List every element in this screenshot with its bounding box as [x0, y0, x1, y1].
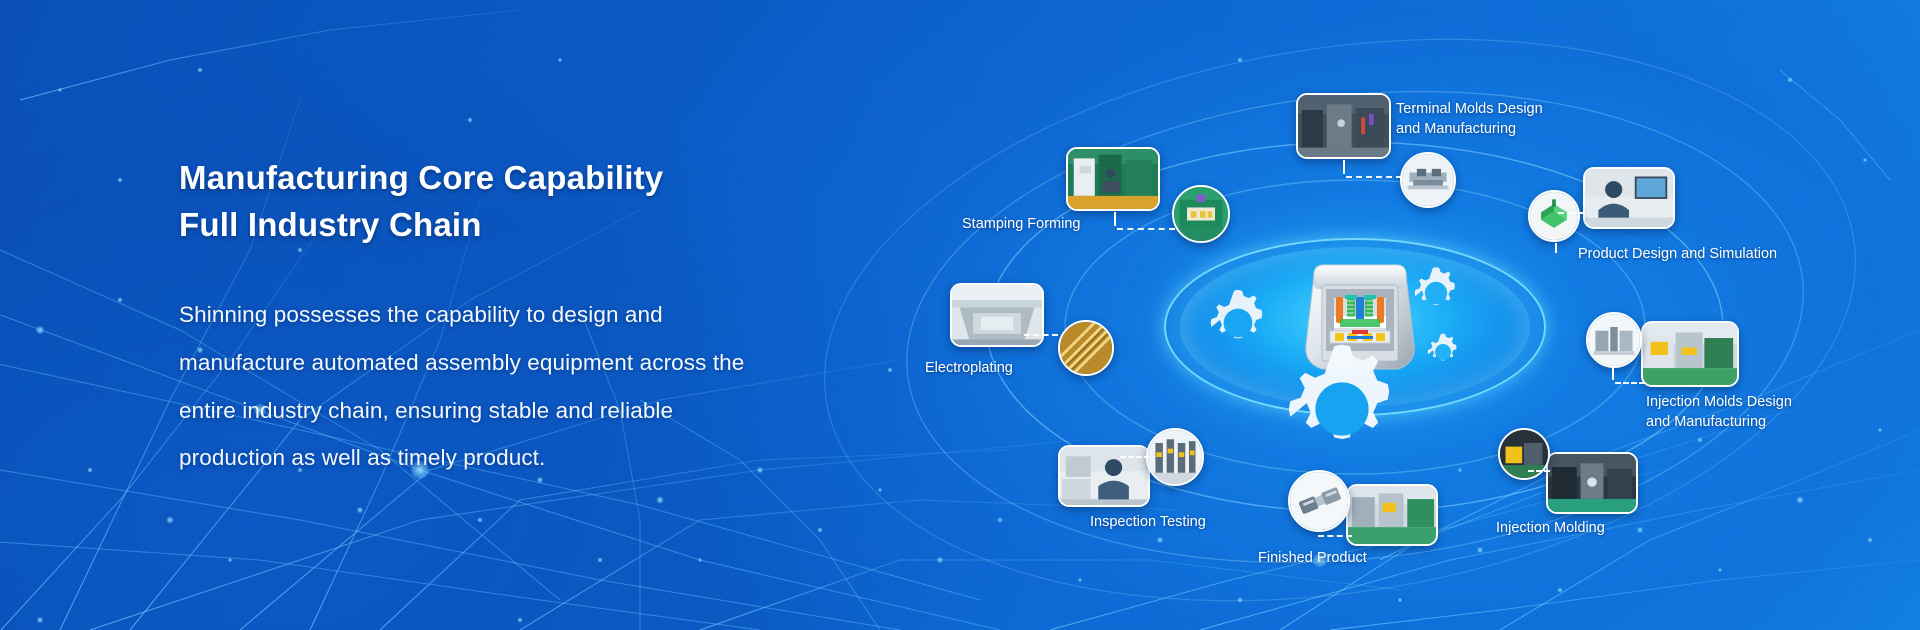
connector-product-photo[interactable]: [1288, 470, 1350, 532]
engineer-at-cad-photo[interactable]: [1583, 167, 1675, 229]
gear-icon: [1202, 287, 1274, 359]
node-label-electroplating: Electroplating: [925, 358, 1013, 378]
gear-icon: [1272, 339, 1412, 479]
node-label-finished-product: Finished Product: [1258, 548, 1367, 568]
node-label-inspection-testing: Inspection Testing: [1090, 512, 1206, 532]
stamping-press-shop-photo[interactable]: [1066, 147, 1160, 211]
connector-dashed-line: [1120, 456, 1150, 458]
stamping-die-photo[interactable]: [1172, 185, 1230, 243]
injection-machine-line-photo[interactable]: [1641, 321, 1739, 387]
injection-mold-part-photo[interactable]: [1586, 312, 1642, 368]
connector-dashed-line: [1318, 535, 1352, 537]
connector-dashed-line: [1528, 470, 1550, 472]
diagram-center-hub: [1180, 247, 1530, 407]
molding-workshop-photo[interactable]: [1546, 452, 1638, 514]
node-label-injection-molds: Injection Molds Design and Manufacturing: [1646, 392, 1816, 432]
node-label-terminal-molds: Terminal Molds Design and Manufacturing: [1396, 99, 1566, 139]
connector-dashed-line: [1117, 228, 1175, 230]
connector-dashed-line: [1558, 212, 1584, 214]
lab-inspection-photo[interactable]: [1058, 445, 1150, 507]
connector-tick: [1343, 160, 1345, 174]
plating-line-photo[interactable]: [950, 283, 1044, 347]
node-label-stamping-forming: Stamping Forming: [962, 214, 1080, 234]
connector-dashed-line: [1615, 382, 1645, 384]
connector-tick: [1612, 368, 1614, 380]
green-3d-model-photo[interactable]: [1528, 190, 1580, 242]
test-instruments-photo[interactable]: [1146, 428, 1204, 486]
connector-dashed-line: [1346, 176, 1402, 178]
assembly-line-photo[interactable]: [1346, 484, 1438, 546]
gold-plated-strip-photo[interactable]: [1058, 320, 1114, 376]
connector-tick: [1114, 212, 1116, 226]
node-label-injection-molding: Injection Molding: [1496, 518, 1605, 538]
molding-machine-photo[interactable]: [1498, 428, 1550, 480]
manufacturing-capability-banner: Manufacturing Core Capability Full Indus…: [0, 0, 1920, 630]
connector-dashed-line: [1024, 334, 1058, 336]
node-label-product-design: Product Design and Simulation: [1578, 244, 1777, 264]
factory-workshop-photo[interactable]: [1296, 93, 1391, 159]
terminal-mold-part-photo[interactable]: [1400, 152, 1456, 208]
connector-tick: [1555, 243, 1557, 253]
